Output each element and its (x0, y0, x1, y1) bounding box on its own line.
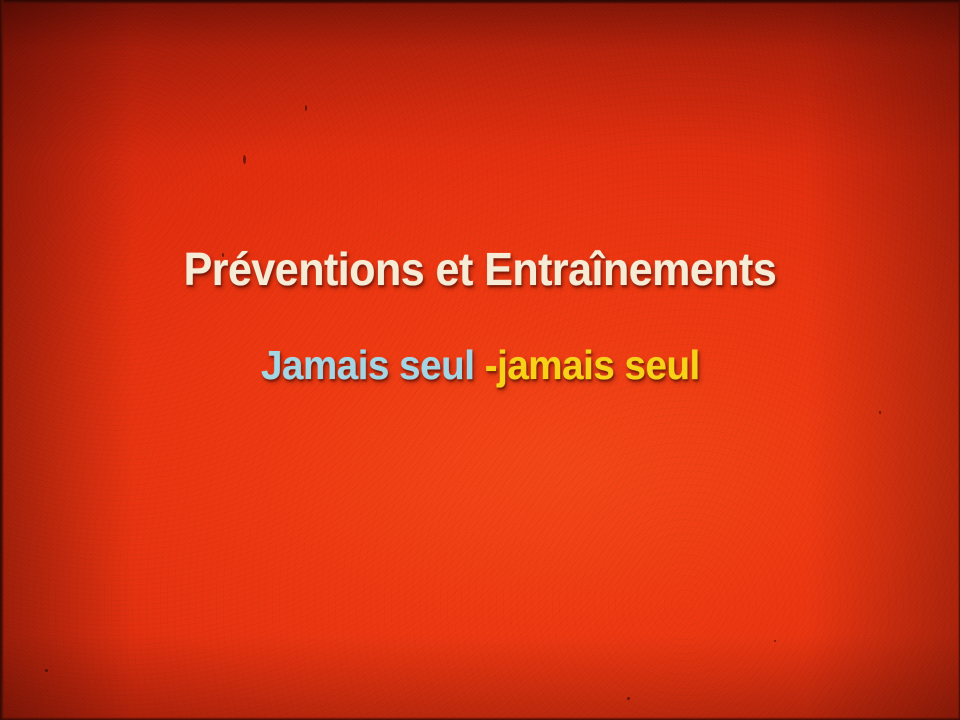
slide-subtitle: Jamais seul -jamais seul (261, 345, 700, 386)
slide-subtitle-segment-yellow: -jamais seul (484, 342, 699, 388)
slide-subtitle-segment-blue: Jamais seul (261, 342, 485, 388)
slide-text-block: Préventions et Entraînements Jamais seul… (0, 0, 960, 720)
slide-title: Préventions et Entraînements (184, 246, 777, 292)
presentation-slide: Préventions et Entraînements Jamais seul… (0, 0, 960, 720)
